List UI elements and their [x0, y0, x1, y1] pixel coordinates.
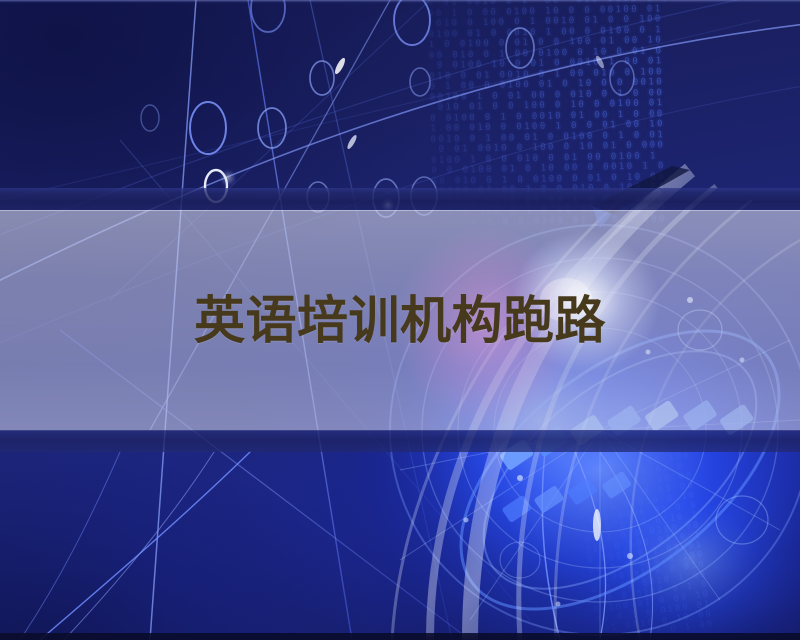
banner-image: 0 01 0010 0 1 00 010 0100 1 0 00 1 0 00 … [0, 0, 800, 640]
top-edge-line [0, 0, 800, 3]
band-light-title [0, 210, 800, 431]
band-bottom-dark [0, 430, 800, 452]
band-top-dark [0, 188, 800, 210]
bottom-edge-line [0, 633, 800, 640]
